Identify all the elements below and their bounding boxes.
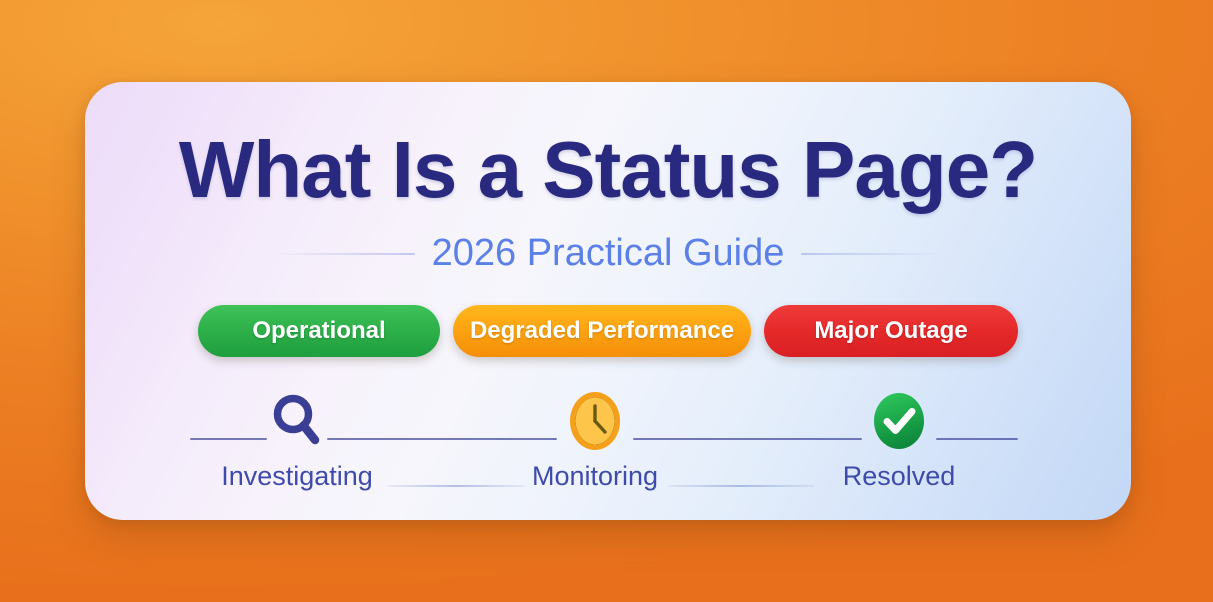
timeline-step-label: Monitoring [500, 461, 690, 492]
subtitle-rule-left [278, 253, 415, 255]
timeline-step-investigating[interactable]: Investigating [202, 387, 392, 492]
page-title: What Is a Status Page? [85, 130, 1131, 210]
subtitle-rule-right [801, 253, 938, 255]
clock-icon [500, 387, 690, 455]
status-badge-degraded-performance[interactable]: Degraded Performance [453, 305, 751, 357]
status-badge-group: Operational Degraded Performance Major O… [85, 305, 1131, 357]
page-subtitle: 2026 Practical Guide [432, 232, 785, 275]
timeline-step-label: Resolved [804, 461, 994, 492]
timeline-step-label: Investigating [202, 461, 392, 492]
incident-timeline: Investigating Monitoring [190, 387, 1026, 487]
check-circle-icon [804, 387, 994, 455]
timeline-step-monitoring[interactable]: Monitoring [500, 387, 690, 492]
timeline-step-resolved[interactable]: Resolved [804, 387, 994, 492]
magnifier-icon [202, 387, 392, 455]
status-page-card: What Is a Status Page? 2026 Practical Gu… [85, 82, 1131, 520]
subtitle-row: 2026 Practical Guide [85, 232, 1131, 275]
status-badge-operational[interactable]: Operational [198, 305, 440, 357]
status-badge-major-outage[interactable]: Major Outage [764, 305, 1018, 357]
